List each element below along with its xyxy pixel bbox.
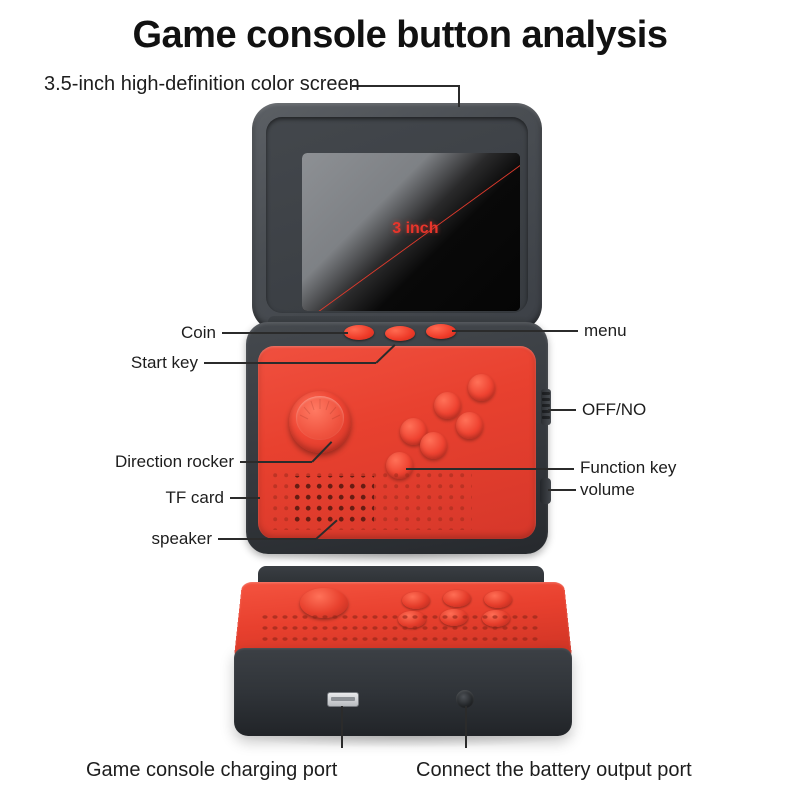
base-button-3[interactable] [484, 591, 512, 608]
base-housing [234, 648, 572, 736]
callout-charging-port: Game console charging port [86, 760, 337, 780]
leader-volume [548, 489, 576, 491]
leader-speaker-h [218, 538, 316, 540]
leader-menu [452, 330, 578, 332]
callout-battery-output-port: Connect the battery output port [416, 760, 692, 780]
lid-inner-bezel: 3 inch [266, 117, 528, 313]
action-button-3[interactable] [468, 374, 495, 401]
console-screen[interactable]: 3 inch [302, 153, 520, 311]
callout-off-no: OFF/NO [582, 401, 646, 418]
coin-button[interactable] [344, 325, 374, 340]
leader-coin [222, 332, 348, 334]
micro-usb-port-icon[interactable] [327, 692, 359, 707]
screen-size-badge: 3 inch [392, 220, 438, 238]
function-key-button[interactable] [456, 412, 483, 439]
leader-charging-v [341, 706, 343, 748]
action-button-5[interactable] [420, 432, 447, 459]
leader-rocker-h [240, 461, 312, 463]
direction-rocker-joystick[interactable] [289, 391, 351, 453]
leader-screen-spec-h [352, 85, 460, 87]
callout-coin: Coin [116, 324, 216, 341]
leader-function [406, 468, 574, 470]
callout-tf-card: TF card [118, 489, 224, 506]
callout-volume: volume [580, 481, 635, 498]
callout-direction-rocker: Direction rocker [64, 453, 234, 470]
speaker-grille [272, 472, 472, 534]
base-button-2[interactable] [443, 590, 471, 607]
menu-button[interactable] [426, 324, 456, 339]
leader-start-h [204, 362, 376, 364]
callout-function-key: Function key [580, 459, 676, 476]
leader-offno [548, 409, 576, 411]
callout-start-key: Start key [96, 354, 198, 371]
illustration-canvas: Game console button analysis 3 inch [0, 0, 800, 800]
console-lid: 3 inch [252, 103, 542, 331]
base-button-1[interactable] [402, 592, 430, 609]
volume-button[interactable] [540, 478, 551, 504]
callout-speaker: speaker [118, 530, 212, 547]
base-speaker-grille [262, 614, 540, 648]
callout-screen-spec: 3.5-inch high-definition color screen [44, 74, 360, 94]
leader-screen-spec-v [458, 85, 460, 107]
action-button-2[interactable] [434, 392, 461, 419]
leader-tfcard [230, 497, 260, 499]
joystick-ribs-icon [289, 391, 351, 453]
power-switch-off-no[interactable] [541, 389, 551, 425]
callout-menu: menu [584, 322, 627, 339]
leader-battery-v [465, 706, 467, 748]
page-title: Game console button analysis [0, 14, 800, 57]
start-button[interactable] [385, 326, 415, 341]
